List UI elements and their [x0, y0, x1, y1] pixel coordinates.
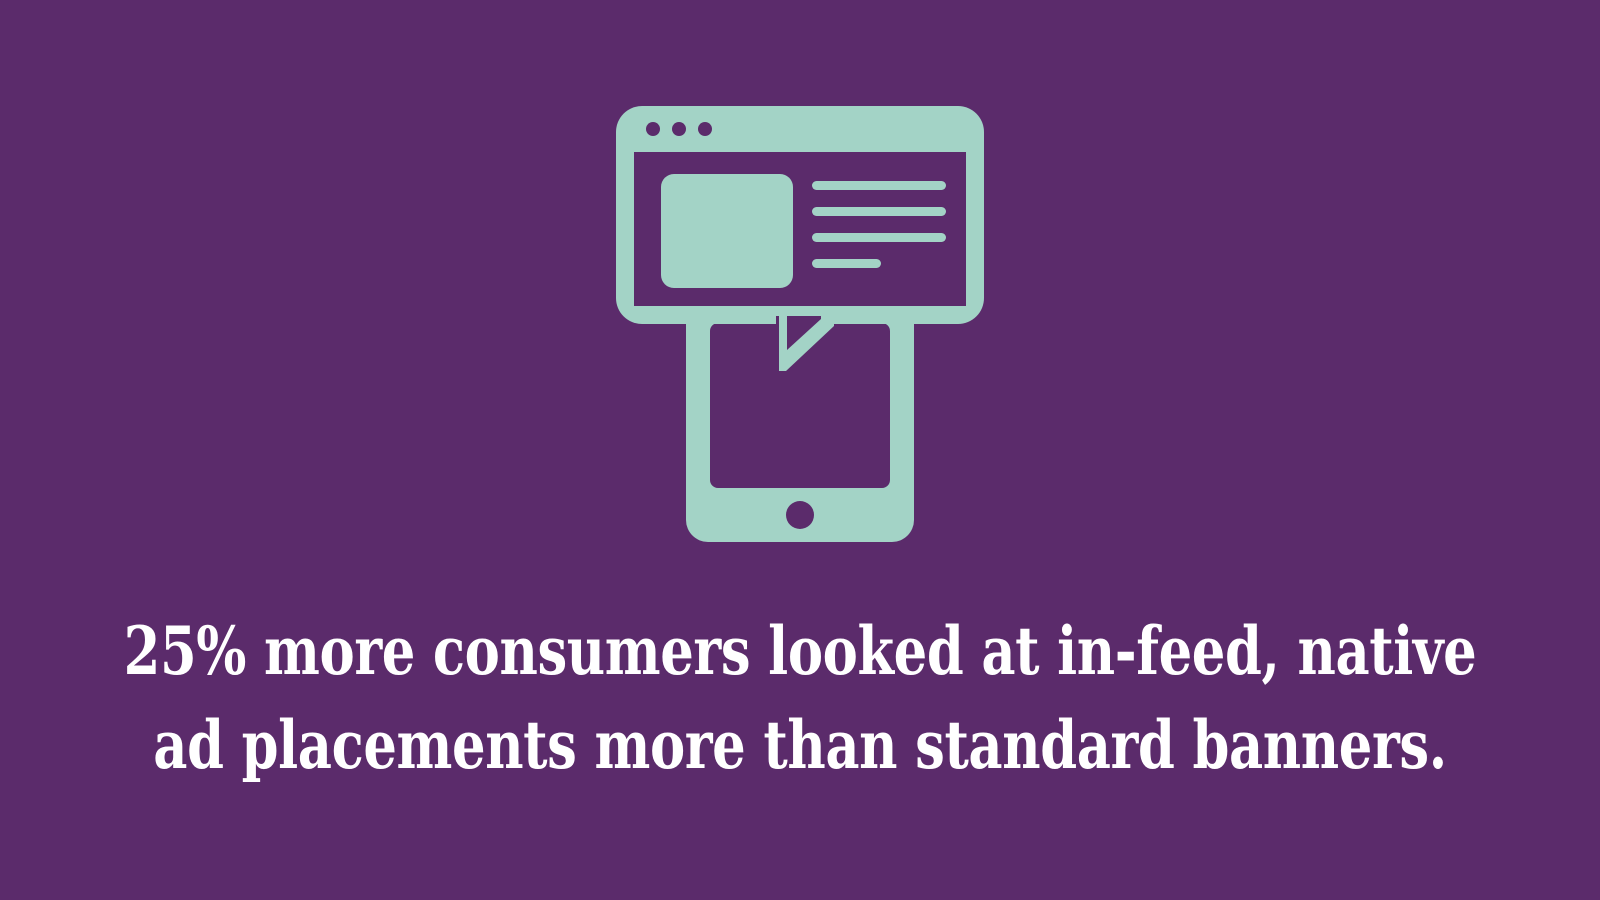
browser-dot-2 — [672, 122, 686, 136]
caption: 25% more consumers looked at in-feed, na… — [80, 604, 1520, 792]
browser-dot-1 — [646, 122, 660, 136]
caption-line-1: 25% more consumers looked at in-feed, na… — [80, 604, 1520, 698]
native-in-feed-ad-illustration — [590, 80, 1010, 550]
stat-card: 25% more consumers looked at in-feed, na… — [0, 0, 1600, 900]
phone-home-button — [786, 501, 814, 529]
browser-window-dots — [646, 122, 712, 136]
caption-inner: 25% more consumers looked at in-feed, na… — [80, 604, 1520, 792]
text-line-1 — [812, 181, 946, 190]
browser-window-frame — [616, 106, 984, 324]
text-line-4 — [812, 259, 881, 268]
browser-dot-3 — [698, 122, 712, 136]
text-line-2 — [812, 207, 946, 216]
text-line-3 — [812, 233, 946, 242]
illustration-container — [0, 80, 1600, 570]
image-placeholder-block — [661, 174, 793, 288]
caption-line-2: ad placements more than standard banners… — [80, 698, 1520, 792]
